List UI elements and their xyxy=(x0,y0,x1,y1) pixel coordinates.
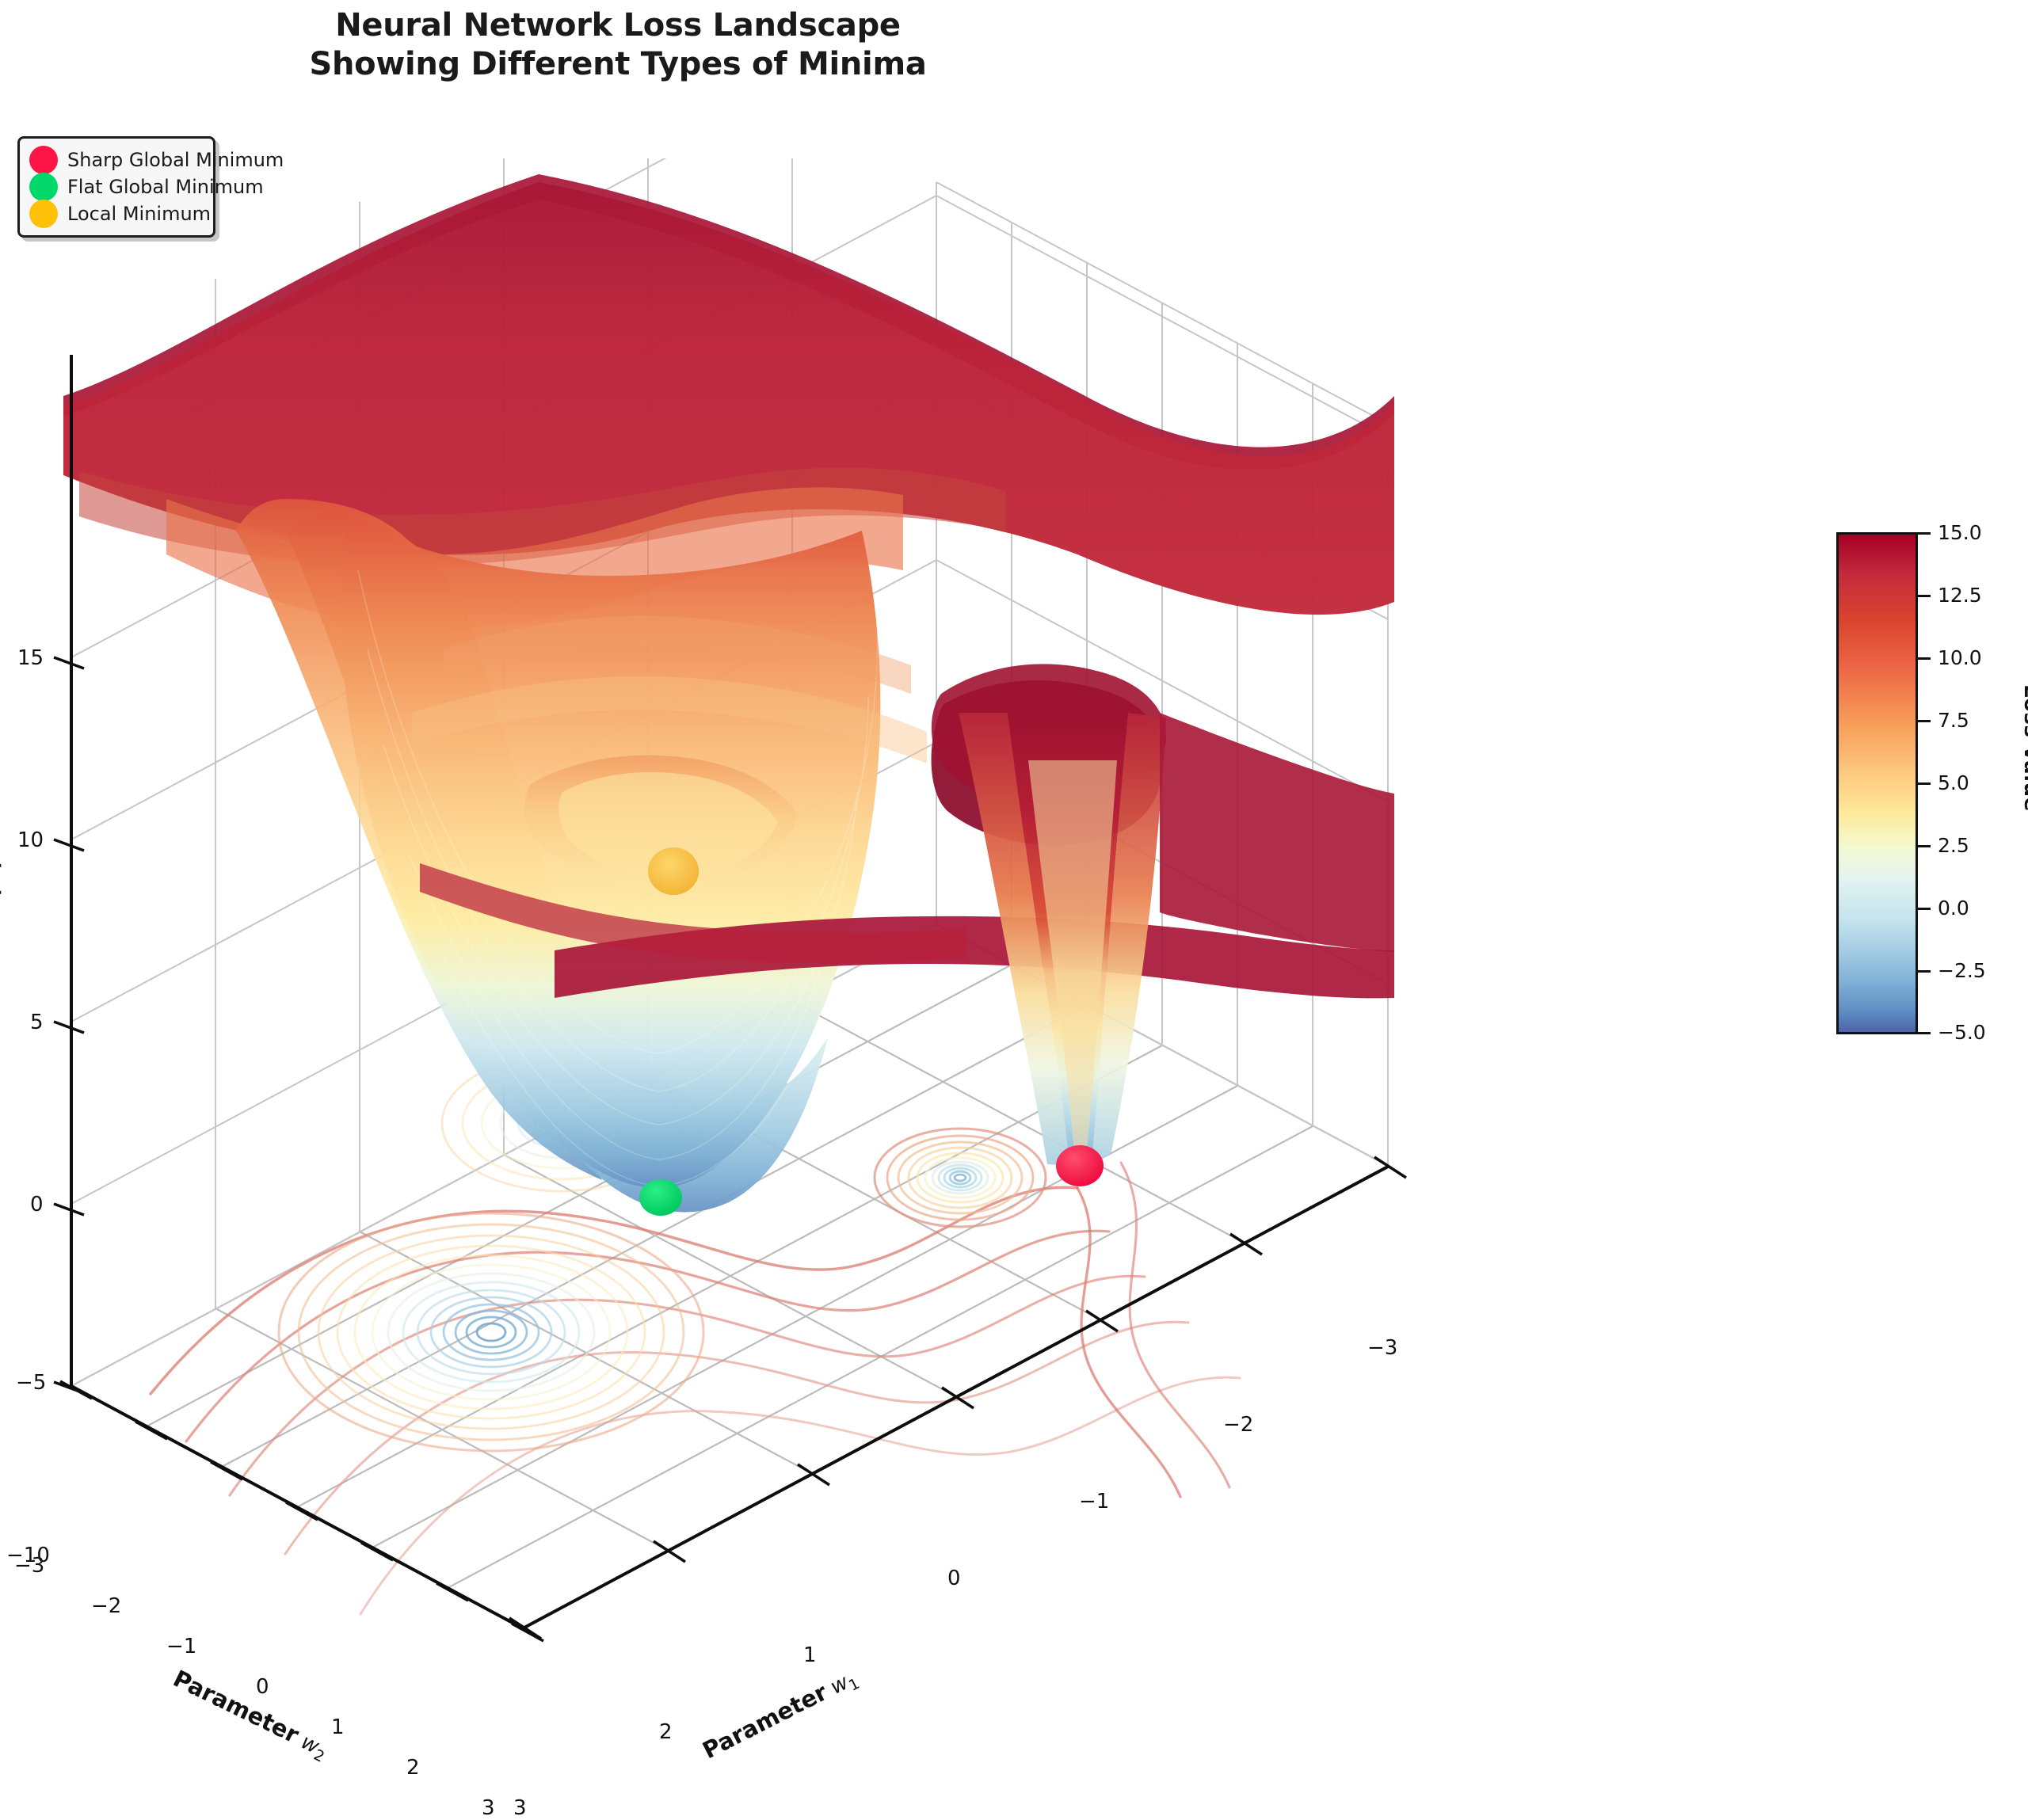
colorbar-tick-label: 7.5 xyxy=(1938,709,1969,732)
y-tick-label: 0 xyxy=(256,1675,269,1699)
colorbar-tick-label: 12.5 xyxy=(1938,584,1982,607)
x-tick-label: −1 xyxy=(1079,1490,1109,1513)
marker-flat-global-minimum[interactable] xyxy=(639,1179,682,1216)
x-axis-label-text: Parameter xyxy=(698,1678,831,1764)
y-tick-label: −1 xyxy=(166,1635,196,1658)
page-title: Neural Network Loss Landscape Showing Di… xyxy=(0,6,1236,84)
loss-surface xyxy=(63,174,1394,1212)
colorbar[interactable]: 15.0 12.5 10.0 7.5 5.0 2.5 0.0 −2.5 −5.0… xyxy=(1836,532,2018,1087)
colorbar-tick-label: −5.0 xyxy=(1938,1021,1986,1044)
x-tick-label: 1 xyxy=(803,1643,817,1667)
colorbar-tick xyxy=(1918,595,1931,597)
z-tick-label: −5 xyxy=(16,1371,46,1395)
colorbar-tick xyxy=(1918,532,1931,535)
x-tick-label: 0 xyxy=(947,1567,961,1590)
plot-svg xyxy=(48,158,1735,1663)
colorbar-tick-label: 0.0 xyxy=(1938,897,1969,920)
figure-canvas: Neural Network Loss Landscape Showing Di… xyxy=(0,0,2028,1735)
y-tick-label: 1 xyxy=(331,1715,345,1739)
y-tick-label: 3 xyxy=(482,1796,495,1820)
colorbar-tick xyxy=(1918,845,1931,847)
colorbar-tick-label: −2.5 xyxy=(1938,959,1986,982)
colorbar-tick-label: 15.0 xyxy=(1938,521,1982,544)
x-tick-label: −2 xyxy=(1223,1413,1253,1437)
colorbar-tick-label: 2.5 xyxy=(1938,834,1969,857)
z-axis-label: Loss L(w) xyxy=(0,859,4,973)
colorbar-tick xyxy=(1918,1032,1931,1034)
marker-sharp-global-minimum[interactable] xyxy=(1056,1145,1104,1186)
marker-local-minimum[interactable] xyxy=(648,847,699,895)
y-tick-label: −2 xyxy=(91,1594,121,1618)
title-line-2: Showing Different Types of Minima xyxy=(0,45,1236,84)
z-tick-label: 0 xyxy=(30,1193,44,1217)
contour-sharp-minimum xyxy=(875,1129,1046,1227)
y-tick-label: −3 xyxy=(14,1554,44,1578)
z-tick-label: 10 xyxy=(17,828,44,852)
x-axis-label: Parameter w1 xyxy=(698,1663,862,1767)
x-tick-label: −3 xyxy=(1367,1336,1397,1360)
colorbar-tick xyxy=(1918,782,1931,785)
colorbar-tick-label: 5.0 xyxy=(1938,771,1969,794)
y-tick-label: 2 xyxy=(406,1756,420,1780)
colorbar-tick-label: 10.0 xyxy=(1938,646,1982,669)
colorbar-tick xyxy=(1918,908,1931,910)
title-line-1: Neural Network Loss Landscape xyxy=(0,6,1236,45)
z-tick-label: 15 xyxy=(17,646,44,670)
x-tick-label: 3 xyxy=(513,1796,527,1820)
colorbar-title: Loss Value xyxy=(2019,684,2028,812)
z-tick-label: 5 xyxy=(30,1011,44,1034)
y-axis-label-text: Parameter xyxy=(169,1665,303,1749)
x-tick-label: 2 xyxy=(659,1720,673,1744)
y-axis-label: Parameter w2 xyxy=(168,1665,333,1766)
colorbar-tick xyxy=(1918,720,1931,722)
colorbar-gradient[interactable] xyxy=(1836,532,1918,1034)
colorbar-tick xyxy=(1918,970,1931,973)
colorbar-tick xyxy=(1918,657,1931,660)
z-axis-ticks xyxy=(54,657,84,1393)
surface-plot-3d[interactable]: 15 10 5 0 −5 −10 −3 −2 −1 0 1 2 3 3 2 1 … xyxy=(48,158,1735,1663)
